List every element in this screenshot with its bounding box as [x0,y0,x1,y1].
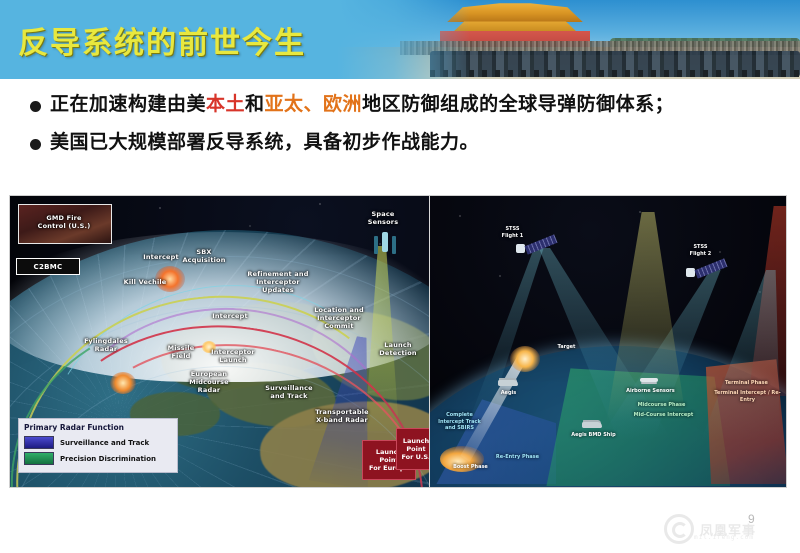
label-airborne-sensors: Airborne Sensors [620,388,680,395]
slide-root: 反导系统的前世今生 正在加速构建由美本土和亚太、欧洲地区防御组成的全球导弹防御体… [0,0,800,553]
bullet1-seg2-highlight-red: 本土 [206,93,245,115]
legend-label-surveillance: Surveillance and Track [60,439,149,447]
label-gmd-fire-control: GMD Fire Control (U.S.) [20,214,108,230]
label-space-sensors: Space Sensors [358,210,408,226]
intercept-flash-mid [110,372,136,394]
military-vehicle-column [430,51,800,77]
bullet1-seg1: 正在加速构建由美 [50,93,206,115]
label-terminal-sub: Terminal Intercept / Re-Entry [712,390,782,403]
bullet1-seg5: 地区防御组成的全球导弹防御体系； [362,93,674,115]
label-stss-flight-1: STSS Flight 1 [490,226,534,239]
bullet1-seg4-highlight-orange: 亚太、欧洲 [265,93,363,115]
label-terminal-phase: Terminal Phase [718,380,774,387]
phoenix-logo-icon [664,514,694,544]
bullet-list: 正在加速构建由美本土和亚太、欧洲地区防御组成的全球导弹防御体系； 美国已大规模部… [30,92,780,167]
label-midcourse-phase: Midcourse Phase [628,402,694,409]
legend-item-surveillance: Surveillance and Track [24,436,172,449]
watermark: 凤凰军事 mil.ifeng.com [664,512,788,546]
label-boost-phase: Boost Phase [450,464,490,471]
space-sensor-satellite-icon [382,232,388,252]
label-location-commit: Location and Interceptor Commit [306,306,372,330]
figure-row: GMD Fire Control (U.S.) C2BMC Intercept … [10,196,786,487]
label-complete-intercept-track: Complete Intercept Track and SBIRS [434,412,484,432]
label-missile-field: Missile Field [158,344,204,360]
photo-fade-gradient [280,0,470,79]
tiananmen-parade-photo [280,0,800,79]
page-number: 9 [748,512,755,526]
label-surveillance-and-track: Surveillance and Track [258,384,320,400]
airborne-sensor-icon [640,378,658,382]
bullet-dot-icon [30,101,41,112]
label-target: Target [546,344,586,351]
list-item: 正在加速构建由美本土和亚太、欧洲地区防御组成的全球导弹防御体系； [30,92,780,118]
label-sbx-acquisition: SBX Acquisition [178,248,230,264]
label-european-midcourse-radar: European Midcourse Radar [178,370,240,394]
label-aegis-bmd-ship: Aegis BMD Ship [564,432,622,439]
figure-gmd-architecture: GMD Fire Control (U.S.) C2BMC Intercept … [10,196,429,487]
label-c2bmc: C2BMC [16,258,80,275]
bullet1-seg3: 和 [245,93,265,115]
legend-label-precision: Precision Discrimination [60,455,156,463]
bullet-dot-icon [30,139,41,150]
label-launch-point-for-us: Launch Point For U.S. [396,428,429,470]
label-transportable-xband-radar: Transportable X-band Radar [308,408,376,424]
radar-function-legend: Primary Radar Function Surveillance and … [18,418,178,473]
legend-title: Primary Radar Function [24,423,172,432]
legend-item-precision: Precision Discrimination [24,452,172,465]
aegis-ship-icon [498,380,518,386]
label-refinement-updates: Refinement and Interceptor Updates [242,270,314,294]
label-interceptor-launch: Interceptor Launch [206,348,260,364]
figure-stss-phases: STSS Flight 1 STSS Flight 2 Aegis Aegis … [429,196,786,487]
legend-swatch-blue [24,436,54,449]
list-item: 美国已大规模部署反导系统，具备初步作战能力。 [30,130,780,156]
watermark-domain: mil.ifeng.com [694,534,754,541]
label-fylingdales-radar: Fylingdales Radar [76,337,136,353]
label-aegis-ship: Aegis [486,390,530,397]
bullet-text-2: 美国已大规模部署反导系统，具备初步作战能力。 [50,130,479,156]
aegis-bmd-ship-icon [582,422,602,428]
label-re-entry-phase: Re-Entry Phase [484,454,550,461]
legend-swatch-green [24,452,54,465]
label-launch-detection: Launch Detection [374,341,422,357]
label-kill-vehicle: Kill Vechile [115,278,175,286]
page-title: 反导系统的前世今生 [18,18,306,62]
label-stss-flight-2: STSS Flight 2 [678,244,722,257]
label-midcourse-sub: Mid-Course Intercept [628,412,698,419]
label-intercept-mid: Intercept [206,312,254,320]
bullet-text-1: 正在加速构建由美本土和亚太、欧洲地区防御组成的全球导弹防御体系； [50,92,674,118]
header-banner: 反导系统的前世今生 [0,0,800,79]
